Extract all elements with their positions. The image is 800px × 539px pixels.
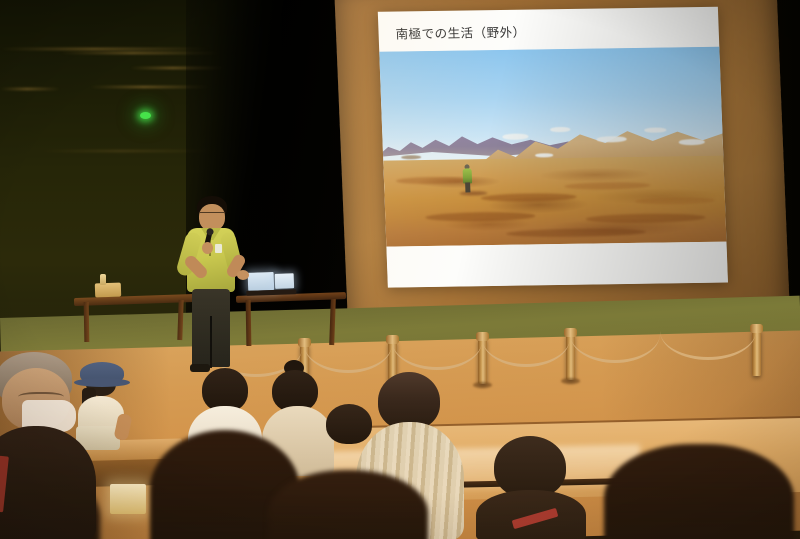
audience-elderly-masked-person [0, 352, 92, 539]
foreground-silhouette-right [604, 444, 794, 539]
table-left-bottle [100, 274, 106, 285]
slide-title: 南極での生活（野外） [395, 22, 526, 43]
table-left-box [95, 283, 121, 298]
presenter-laptop [248, 271, 297, 297]
photo-rocky-ground [383, 156, 726, 247]
slide-bottom-margin [386, 242, 728, 288]
lecture-hall-photo: 南極での生活（野外） [0, 0, 800, 539]
presenter [182, 196, 244, 374]
photo-distant-peaks [379, 127, 569, 166]
presentation-slide: 南極での生活（野外） [378, 7, 728, 288]
photo-researcher-figure [462, 164, 472, 192]
name-badge [215, 244, 222, 253]
floor-marker-light [110, 484, 146, 514]
photo-rock-ridge [482, 121, 726, 189]
audience-person-red-strap [476, 436, 586, 539]
green-led-indicator-icon [140, 112, 151, 119]
photo-sea-ice [379, 146, 628, 194]
projection-screen: 南極での生活（野外） [334, 0, 790, 344]
eyeglasses-icon [200, 212, 224, 218]
antarctic-landscape-photo [379, 47, 726, 247]
photo-sky [379, 47, 723, 157]
